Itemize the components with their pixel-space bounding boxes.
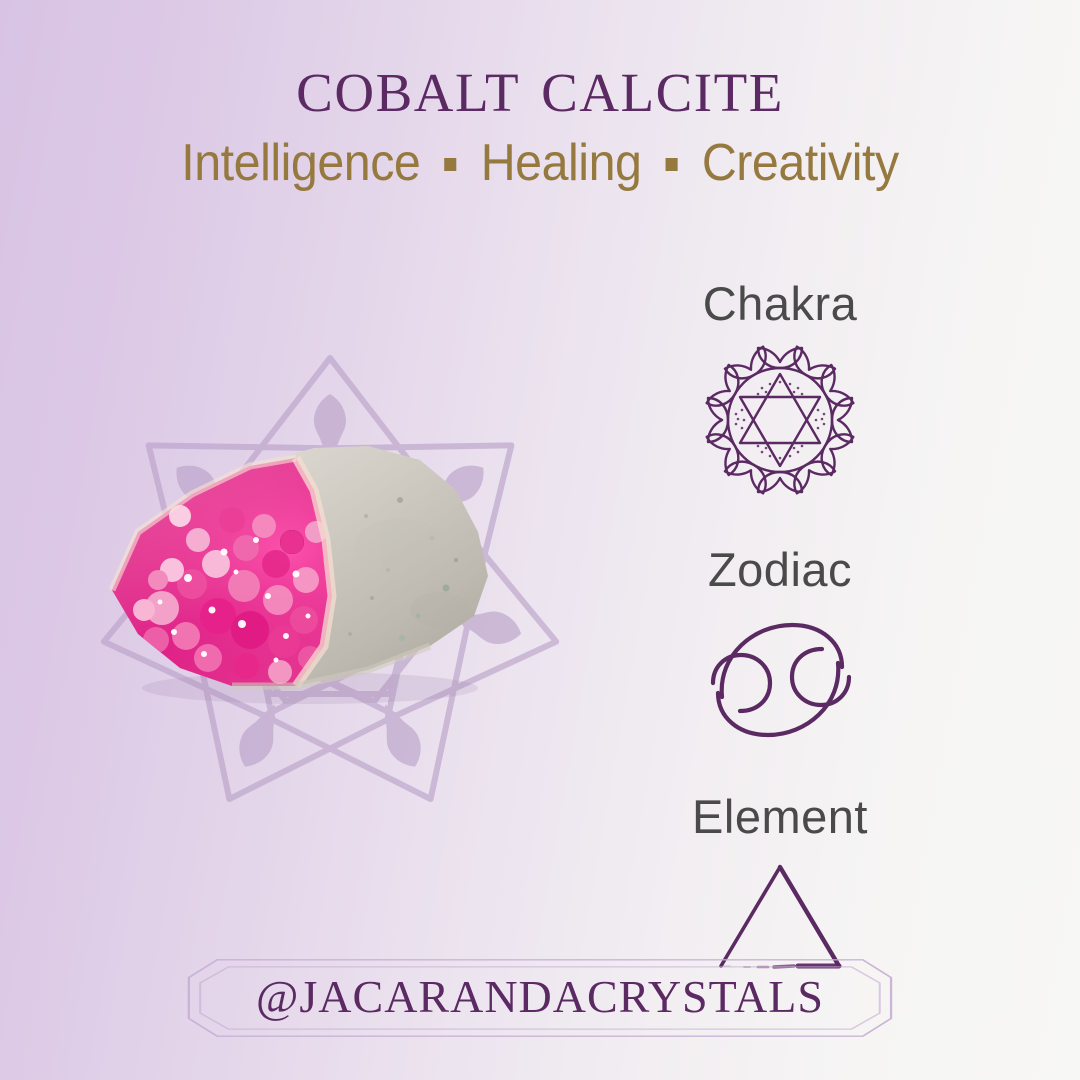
- attribute-label-zodiac: Zodiac: [620, 544, 940, 596]
- keyword-2: Healing: [481, 134, 642, 192]
- handle-frame: @JACARANDACRYSTALS: [186, 958, 894, 1038]
- attribute-label-chakra: Chakra: [620, 278, 940, 330]
- spacer: [620, 761, 940, 791]
- spacer: [620, 506, 940, 544]
- keyword-1: Intelligence: [181, 134, 420, 192]
- poster-header: Cobalt Calcite Intelligence Healing Crea…: [0, 0, 1080, 189]
- subtitle-keywords: Intelligence Healing Creativity: [38, 137, 1042, 189]
- heart-chakra-lotus-icon: [700, 340, 860, 500]
- attribute-element: Element: [620, 791, 940, 983]
- social-handle[interactable]: @JACARANDACRYSTALS: [256, 971, 824, 1022]
- keyword-3: Creativity: [702, 134, 899, 192]
- crystal-specimen-image: [100, 420, 520, 710]
- separator-square-icon: [666, 158, 678, 171]
- separator-square-icon: [444, 158, 456, 171]
- attributes-column: Chakra: [620, 278, 940, 989]
- attribute-chakra: Chakra: [620, 278, 940, 500]
- poster-footer: @JACARANDACRYSTALS: [0, 958, 1080, 1038]
- page-title: Cobalt Calcite: [0, 48, 1080, 123]
- cancer-zodiac-icon: [700, 605, 860, 755]
- crystal-info-poster: Cobalt Calcite Intelligence Healing Crea…: [0, 0, 1080, 1080]
- attribute-zodiac: Zodiac: [620, 544, 940, 756]
- attribute-label-element: Element: [620, 791, 940, 843]
- crystal-showcase: [60, 320, 600, 860]
